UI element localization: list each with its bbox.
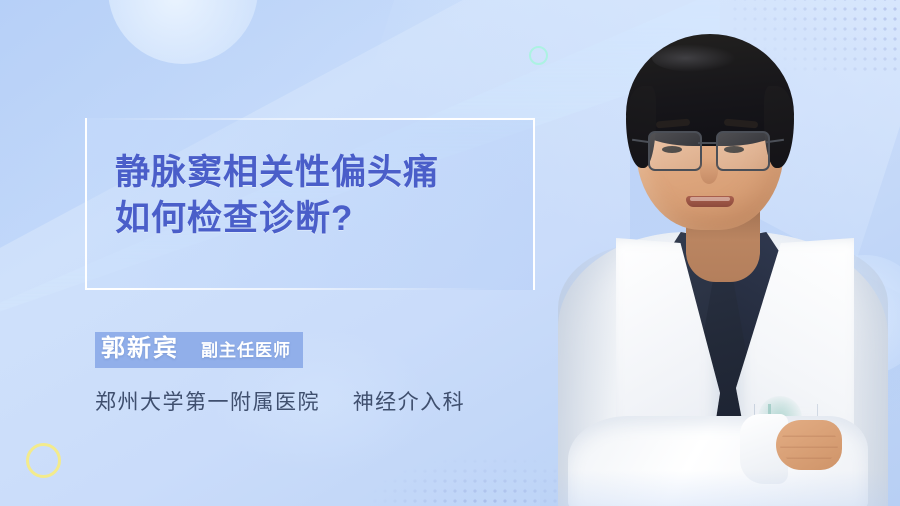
page-title: 静脉窦相关性偏头痛 如何检查诊断? [115,150,545,242]
title-line-2: 如何检查诊断? [115,196,545,242]
doctor-affiliation: 郑州大学第一附属医院 神经介入科 [95,386,465,416]
hair-highlight [652,44,736,72]
title-line-1: 静脉窦相关性偏头痛 [115,150,545,196]
doctor-portrait [540,0,900,506]
nose [700,158,718,184]
mouth-highlight [690,197,730,201]
doctor-credit: 郭新宾 副主任医师 郑州大学第一附属医院 神经介入科 [95,332,465,416]
soft-circle-top [108,0,258,64]
video-cover-image: 静脉窦相关性偏头痛 如何检查诊断? 郭新宾 副主任医师 郑州大学第一附属医院 神… [0,0,900,506]
doctor-name: 郭新宾 [101,337,179,361]
glasses-lens-right [716,131,770,171]
hand-fingers [780,428,838,462]
hospital-name: 郑州大学第一附属医院 [95,391,320,414]
figure-bottom-fade [540,470,900,506]
department-name: 神经介入科 [353,391,466,414]
circle-outline-yellow-icon [26,443,61,478]
doctor-rank-badge: 副主任医师 [201,342,291,359]
glasses-bridge [698,142,718,144]
glasses-lens-left [648,131,702,171]
doctor-name-band: 郭新宾 副主任医师 [95,332,303,368]
